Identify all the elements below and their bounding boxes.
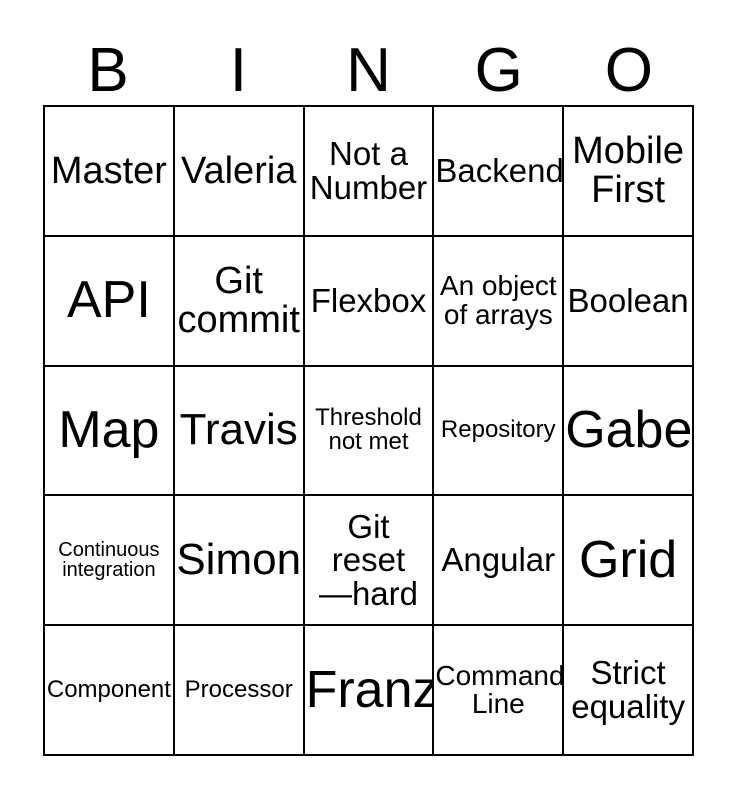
bingo-cell-label: Franz (306, 664, 432, 717)
bingo-cell-label: Git reset —hard (306, 510, 432, 611)
bingo-grid: MasterValeriaNot a NumberBackendMobile F… (43, 105, 694, 756)
bingo-cell[interactable]: Repository (434, 367, 564, 497)
bingo-header-row: BINGO (43, 18, 694, 105)
bingo-cell[interactable]: Boolean (564, 237, 694, 367)
bingo-cell-label: Threshold not met (306, 406, 432, 455)
bingo-cell[interactable]: Flexbox (305, 237, 435, 367)
bingo-cell-label: Gabe (565, 404, 691, 457)
bingo-cell-label: Mobile First (565, 132, 691, 210)
bingo-cell[interactable]: Angular (434, 496, 564, 626)
bingo-cell[interactable]: Map (45, 367, 175, 497)
bingo-cell-label: Repository (435, 418, 561, 442)
bingo-cell-label: Command Line (435, 662, 561, 719)
bingo-cell[interactable]: An object of arrays (434, 237, 564, 367)
bingo-header-letter-o: O (564, 18, 694, 105)
bingo-header-letter-g: G (434, 18, 564, 105)
bingo-cell[interactable]: Processor (175, 626, 305, 756)
bingo-cell-label: Travis (176, 408, 302, 453)
bingo-cell[interactable]: Gabe (564, 367, 694, 497)
bingo-cell-label: Master (46, 152, 172, 191)
bingo-cell[interactable]: Threshold not met (305, 367, 435, 497)
bingo-cell-label: API (46, 274, 172, 327)
bingo-cell-label: Map (46, 404, 172, 457)
bingo-cell-label: Valeria (176, 152, 302, 191)
bingo-cell[interactable]: Master (45, 107, 175, 237)
bingo-cell[interactable]: Travis (175, 367, 305, 497)
bingo-cell-label: Continuous integration (46, 540, 172, 581)
bingo-cell-label: Simon (176, 538, 302, 583)
bingo-cell-label: Component (46, 678, 172, 702)
bingo-cell[interactable]: Grid (564, 496, 694, 626)
bingo-cell-label: Boolean (565, 284, 691, 318)
bingo-cell[interactable]: API (45, 237, 175, 367)
bingo-cell-label: Git commit (176, 262, 302, 340)
bingo-header-letter-n: N (303, 18, 433, 105)
bingo-cell[interactable]: Continuous integration (45, 496, 175, 626)
bingo-cell[interactable]: Not a Number (305, 107, 435, 237)
bingo-cell[interactable]: Command Line (434, 626, 564, 756)
bingo-cell[interactable]: Component (45, 626, 175, 756)
bingo-card: BINGO MasterValeriaNot a NumberBackendMo… (0, 0, 736, 800)
bingo-cell-label: Flexbox (306, 284, 432, 318)
bingo-cell-label: Strict equality (565, 656, 691, 723)
bingo-cell[interactable]: Strict equality (564, 626, 694, 756)
bingo-cell-label: An object of arrays (435, 272, 561, 329)
bingo-cell-label: Grid (565, 534, 691, 587)
bingo-cell[interactable]: Mobile First (564, 107, 694, 237)
bingo-cell[interactable]: Backend (434, 107, 564, 237)
bingo-cell[interactable]: Git reset —hard (305, 496, 435, 626)
bingo-cell[interactable]: Franz (305, 626, 435, 756)
bingo-header-letter-i: I (173, 18, 303, 105)
bingo-cell-label: Angular (435, 543, 561, 577)
bingo-cell-label: Not a Number (306, 137, 432, 204)
bingo-header-letter-b: B (43, 18, 173, 105)
bingo-cell-label: Processor (176, 678, 302, 702)
bingo-cell-label: Backend (435, 154, 561, 188)
bingo-cell[interactable]: Valeria (175, 107, 305, 237)
bingo-cell[interactable]: Git commit (175, 237, 305, 367)
bingo-cell[interactable]: Simon (175, 496, 305, 626)
